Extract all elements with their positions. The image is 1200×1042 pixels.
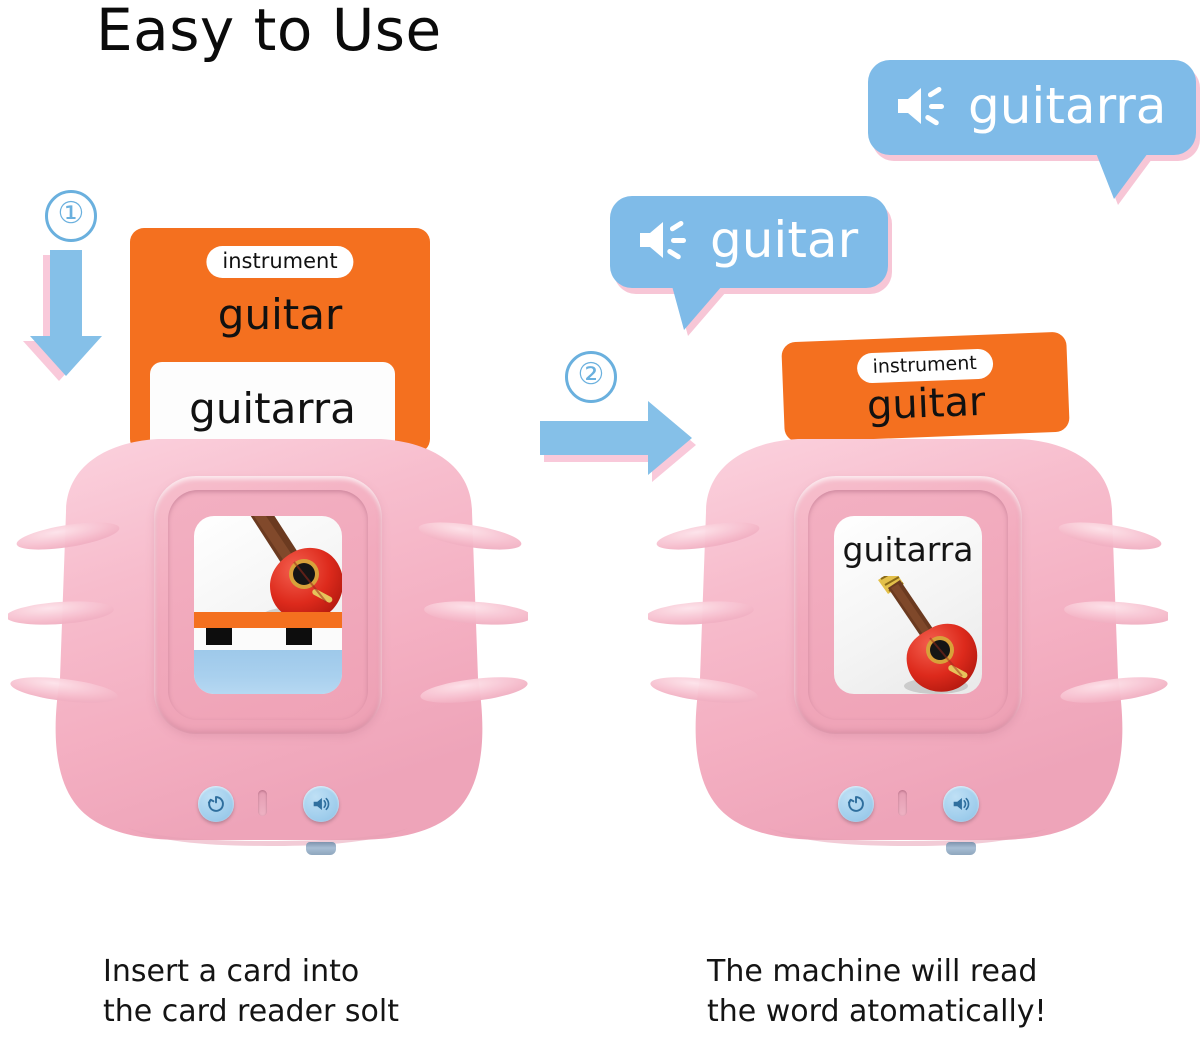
scan-blue-area: [194, 650, 342, 694]
speech-bubble-tail: [672, 286, 722, 330]
flashcard-inserted-orange: instrument guitar: [781, 332, 1070, 443]
step-1-caption: Insert a card into the card reader solt: [103, 952, 399, 1032]
device-right: guitarra: [648, 428, 1168, 858]
guitar-image-icon: [868, 576, 982, 694]
device-foot: [306, 842, 336, 855]
step-1-number: ①: [45, 190, 97, 242]
page-title: Easy to Use: [96, 0, 442, 64]
device-left: [8, 428, 528, 858]
speech-bubble-guitarra: guitarra: [868, 60, 1196, 155]
device-screen-right: guitarra: [834, 516, 982, 694]
scan-orange-stripe: [194, 612, 342, 628]
device-screen-left: [194, 516, 342, 694]
volume-button[interactable]: [943, 786, 979, 822]
device-foot: [946, 842, 976, 855]
speech-bubble-tail: [1096, 153, 1148, 199]
scan-black-mark: [286, 628, 312, 645]
speech-bubble-text: guitarra: [968, 81, 1166, 131]
flashcard-word-english: guitar: [866, 379, 986, 430]
flashcard-word-english: guitar: [218, 290, 342, 339]
speaker-icon: [636, 217, 692, 263]
screen-word-text: guitarra: [834, 530, 982, 569]
speech-bubble-text: guitar: [710, 215, 858, 265]
speaker-icon: [894, 83, 950, 129]
volume-button[interactable]: [303, 786, 339, 822]
step-2-caption: The machine will read the word atomatica…: [707, 952, 1047, 1032]
screen-bezel: guitarra: [794, 476, 1022, 734]
flashcard-word-spanish: guitarra: [189, 384, 356, 433]
caption-line: the card reader solt: [103, 992, 399, 1032]
flashcard-category-badge: instrument: [206, 246, 353, 278]
replay-button[interactable]: [838, 786, 874, 822]
speech-bubble-guitar: guitar: [610, 196, 888, 288]
step-1-down-arrow-icon: [24, 250, 110, 380]
card-reader-slot: [898, 790, 907, 816]
replay-button[interactable]: [198, 786, 234, 822]
caption-line: Insert a card into: [103, 952, 399, 992]
screen-bezel-inner: [168, 490, 368, 720]
screen-bezel: [154, 476, 382, 734]
caption-line: the word atomatically!: [707, 992, 1047, 1032]
card-reader-slot: [258, 790, 267, 816]
scan-black-mark: [206, 628, 232, 645]
screen-bezel-inner: guitarra: [808, 490, 1008, 720]
caption-line: The machine will read: [707, 952, 1047, 992]
